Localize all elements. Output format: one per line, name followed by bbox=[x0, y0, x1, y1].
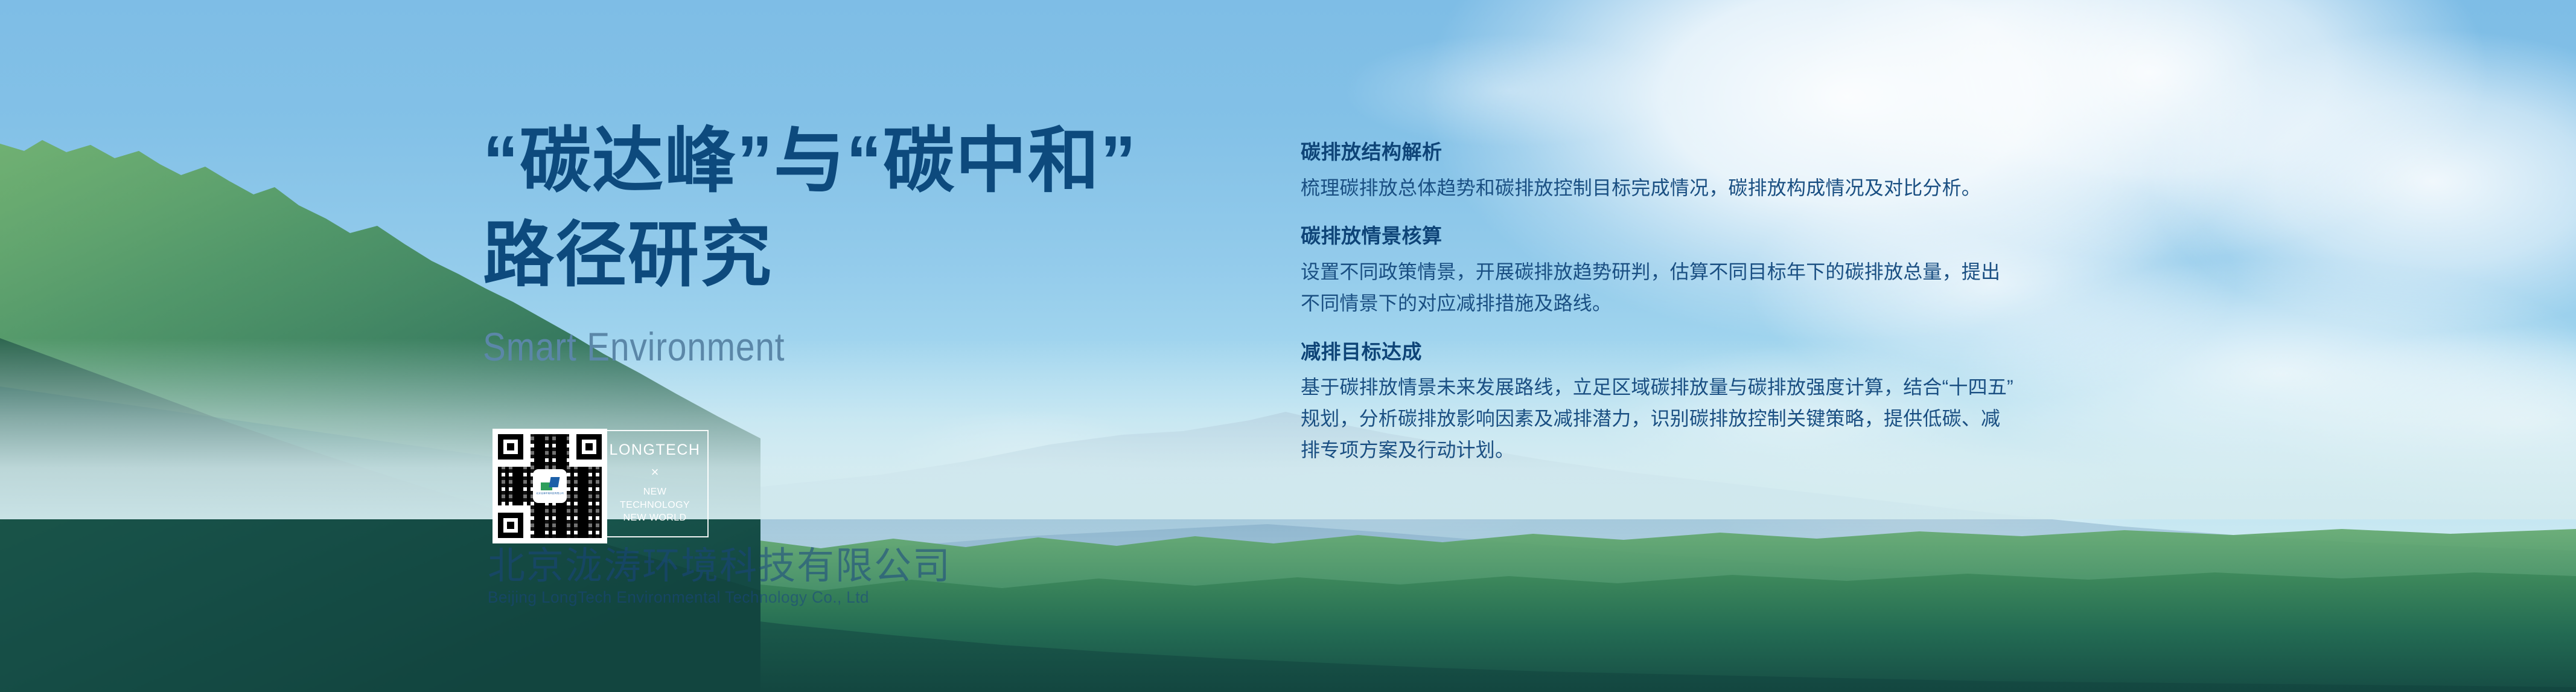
info-column: 碳排放结构解析 梳理碳排放总体趋势和碳排放控制目标完成情况，碳排放构成情况及对比… bbox=[1301, 140, 2176, 466]
info-body-line: 梳理碳排放总体趋势和碳排放控制目标完成情况，碳排放构成情况及对比分析。 bbox=[1301, 173, 2176, 204]
brand-tagline-line-1: NEW bbox=[620, 485, 690, 499]
brand-media-row: 北京泷涛环境科技有限公司 LONGTECH × NEW TECHNOLOGY N… bbox=[493, 429, 709, 543]
longtech-logo-icon bbox=[541, 477, 559, 490]
brand-slogan-box: LONGTECH × NEW TECHNOLOGY NEW WORLD bbox=[601, 430, 709, 537]
qr-finder-top-right bbox=[576, 434, 602, 460]
info-heading: 碳排放情景核算 bbox=[1301, 224, 2176, 248]
brand-tagline-line-3: NEW WORLD bbox=[620, 511, 690, 525]
banner-title-group: “碳达峰”与“碳中和” 路径研究 Smart Environment bbox=[483, 115, 1243, 370]
info-block-reduction-target: 减排目标达成 基于碳排放情景未来发展路线，立足区域碳排放量与碳排放强度计算，结合… bbox=[1301, 340, 2176, 466]
info-body: 设置不同政策情景，开展碳排放趋势研判，估算不同目标年下的碳排放总量，提出 不同情… bbox=[1301, 257, 2176, 319]
forest-foreground bbox=[0, 414, 2576, 692]
info-body-line: 排专项方案及行动计划。 bbox=[1301, 435, 2176, 466]
qr-logo-caption: 北京泷涛环境科技有限公司 bbox=[536, 492, 563, 495]
watermark-company-cn: 北京泷涛环境科技有限公司 bbox=[488, 546, 951, 586]
info-block-carbon-structure: 碳排放结构解析 梳理碳排放总体趋势和碳排放控制目标完成情况，碳排放构成情况及对比… bbox=[1301, 140, 2176, 203]
qr-finder-bottom-left bbox=[498, 513, 523, 538]
atmospheric-haze bbox=[0, 338, 2576, 519]
watermark-company-en: Beijing LongTech Environmental Technolog… bbox=[488, 588, 937, 607]
info-body-line: 不同情景下的对应减排措施及路线。 bbox=[1301, 288, 2176, 319]
info-heading: 碳排放结构解析 bbox=[1301, 140, 2176, 164]
info-body-line: 基于碳排放情景未来发展路线，立足区域碳排放量与碳排放强度计算，结合“十四五” bbox=[1301, 372, 2176, 403]
info-block-scenario-accounting: 碳排放情景核算 设置不同政策情景，开展碳排放趋势研判，估算不同目标年下的碳排放总… bbox=[1301, 224, 2176, 319]
qr-code-matrix: 北京泷涛环境科技有限公司 bbox=[498, 434, 602, 538]
brand-separator-icon: × bbox=[651, 466, 659, 479]
info-body-line: 设置不同政策情景，开展碳排放趋势研判，估算不同目标年下的碳排放总量，提出 bbox=[1301, 257, 2176, 288]
page-title-line-1: “碳达峰”与“碳中和” bbox=[483, 115, 1243, 209]
page-subtitle: Smart Environment bbox=[483, 324, 1137, 370]
distant-mountain-ridge bbox=[0, 354, 2576, 692]
info-body: 梳理碳排放总体趋势和碳排放控制目标完成情况，碳排放构成情况及对比分析。 bbox=[1301, 173, 2176, 204]
brand-tagline: NEW TECHNOLOGY NEW WORLD bbox=[620, 485, 690, 525]
info-body-line: 规划，分析碳排放影响因素及减排潜力，识别碳排放控制关键策略，提供低碳、减 bbox=[1301, 403, 2176, 435]
brand-tagline-line-2: TECHNOLOGY bbox=[620, 499, 690, 512]
info-heading: 减排目标达成 bbox=[1301, 340, 2176, 364]
carbon-peak-neutrality-banner: “碳达峰”与“碳中和” 路径研究 Smart Environment bbox=[0, 0, 2576, 692]
qr-center-logo: 北京泷涛环境科技有限公司 bbox=[534, 470, 566, 502]
brand-name: LONGTECH bbox=[610, 443, 701, 458]
page-title-line-2: 路径研究 bbox=[483, 209, 1243, 303]
qr-code-card[interactable]: 北京泷涛环境科技有限公司 bbox=[493, 429, 607, 543]
company-watermark: 北京泷涛环境科技有限公司 Beijing LongTech Environmen… bbox=[488, 546, 951, 607]
sky-background bbox=[0, 0, 2576, 692]
info-body: 基于碳排放情景未来发展路线，立足区域碳排放量与碳排放强度计算，结合“十四五” 规… bbox=[1301, 372, 2176, 466]
qr-finder-top-left bbox=[498, 434, 523, 460]
